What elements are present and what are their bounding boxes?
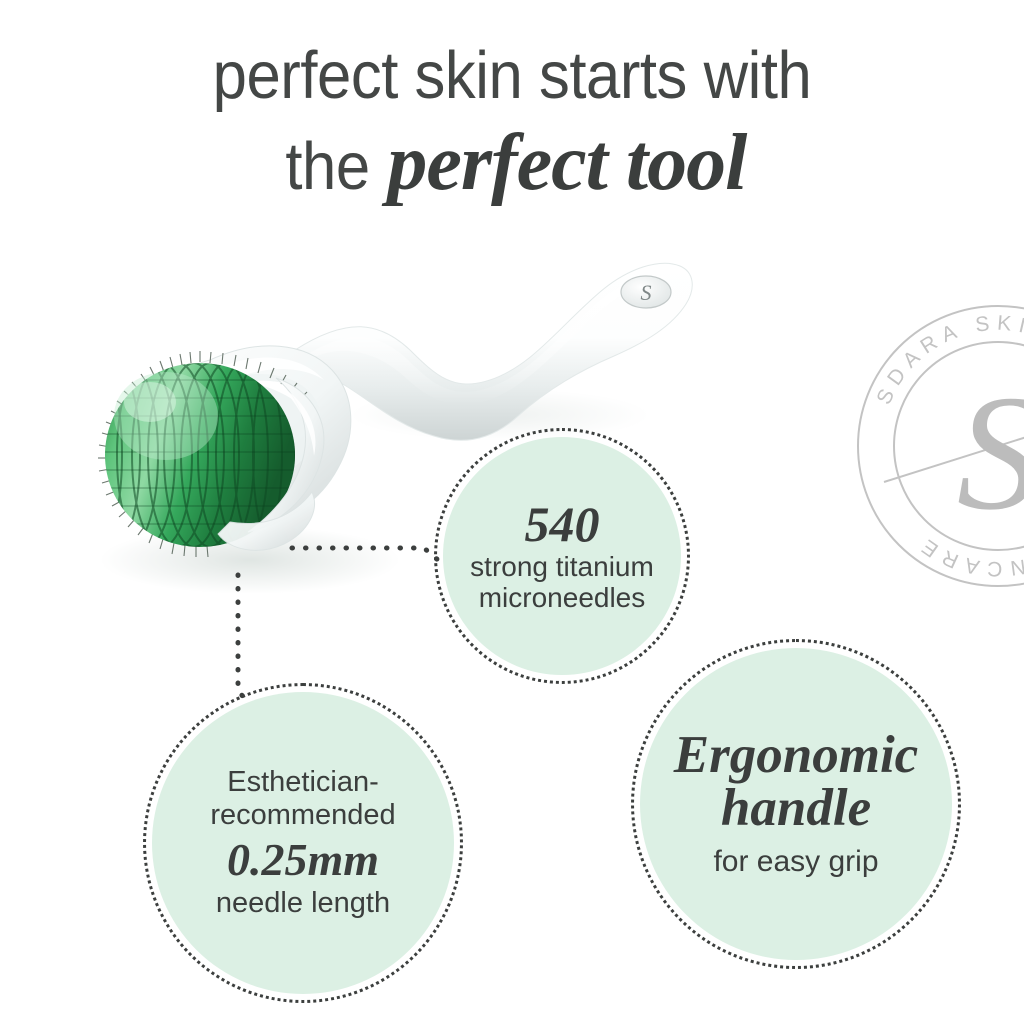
callout-ergonomic-subtext: for easy grip <box>713 845 878 879</box>
headline-line-2: theperfect tool <box>0 123 1024 203</box>
callout-540-headline: 540 <box>525 499 600 549</box>
headline-line-2-emphasis: perfect tool <box>387 123 746 203</box>
brand-logo-watermark: SDARA SKINCARE SKINCARE S <box>848 296 1024 596</box>
callout-ergonomic-headline-line-1: Ergonomic <box>674 729 918 782</box>
callout-ergonomic-handle[interactable]: Ergonomic handle for easy grip <box>640 648 952 960</box>
headline-line-2-plain: the <box>285 133 369 200</box>
handle-emblem: S <box>621 276 671 308</box>
callout-needle-length-line-1: Esthetician- <box>227 766 379 798</box>
callout-540-line-1: strong titanium <box>470 551 654 582</box>
headline: perfect skin starts with theperfect tool <box>0 42 1024 203</box>
headline-line-1: perfect skin starts with <box>41 42 983 109</box>
callout-540-line-2: microneedles <box>479 582 646 613</box>
brand-monogram: S <box>957 361 1024 544</box>
product-marketing-canvas: perfect skin starts with theperfect tool… <box>0 0 1024 1024</box>
callout-needle-length[interactable]: Esthetician- recommended 0.25mm needle l… <box>152 692 454 994</box>
callout-ergonomic-headline-line-2: handle <box>721 782 871 835</box>
callout-needle-length-line-3: needle length <box>216 887 390 919</box>
callout-needle-length-headline: 0.25mm <box>227 837 379 883</box>
callout-540[interactable]: 540 strong titanium microneedles <box>443 437 681 675</box>
callout-needle-length-line-2: recommended <box>210 799 395 831</box>
svg-text:S: S <box>641 280 652 305</box>
